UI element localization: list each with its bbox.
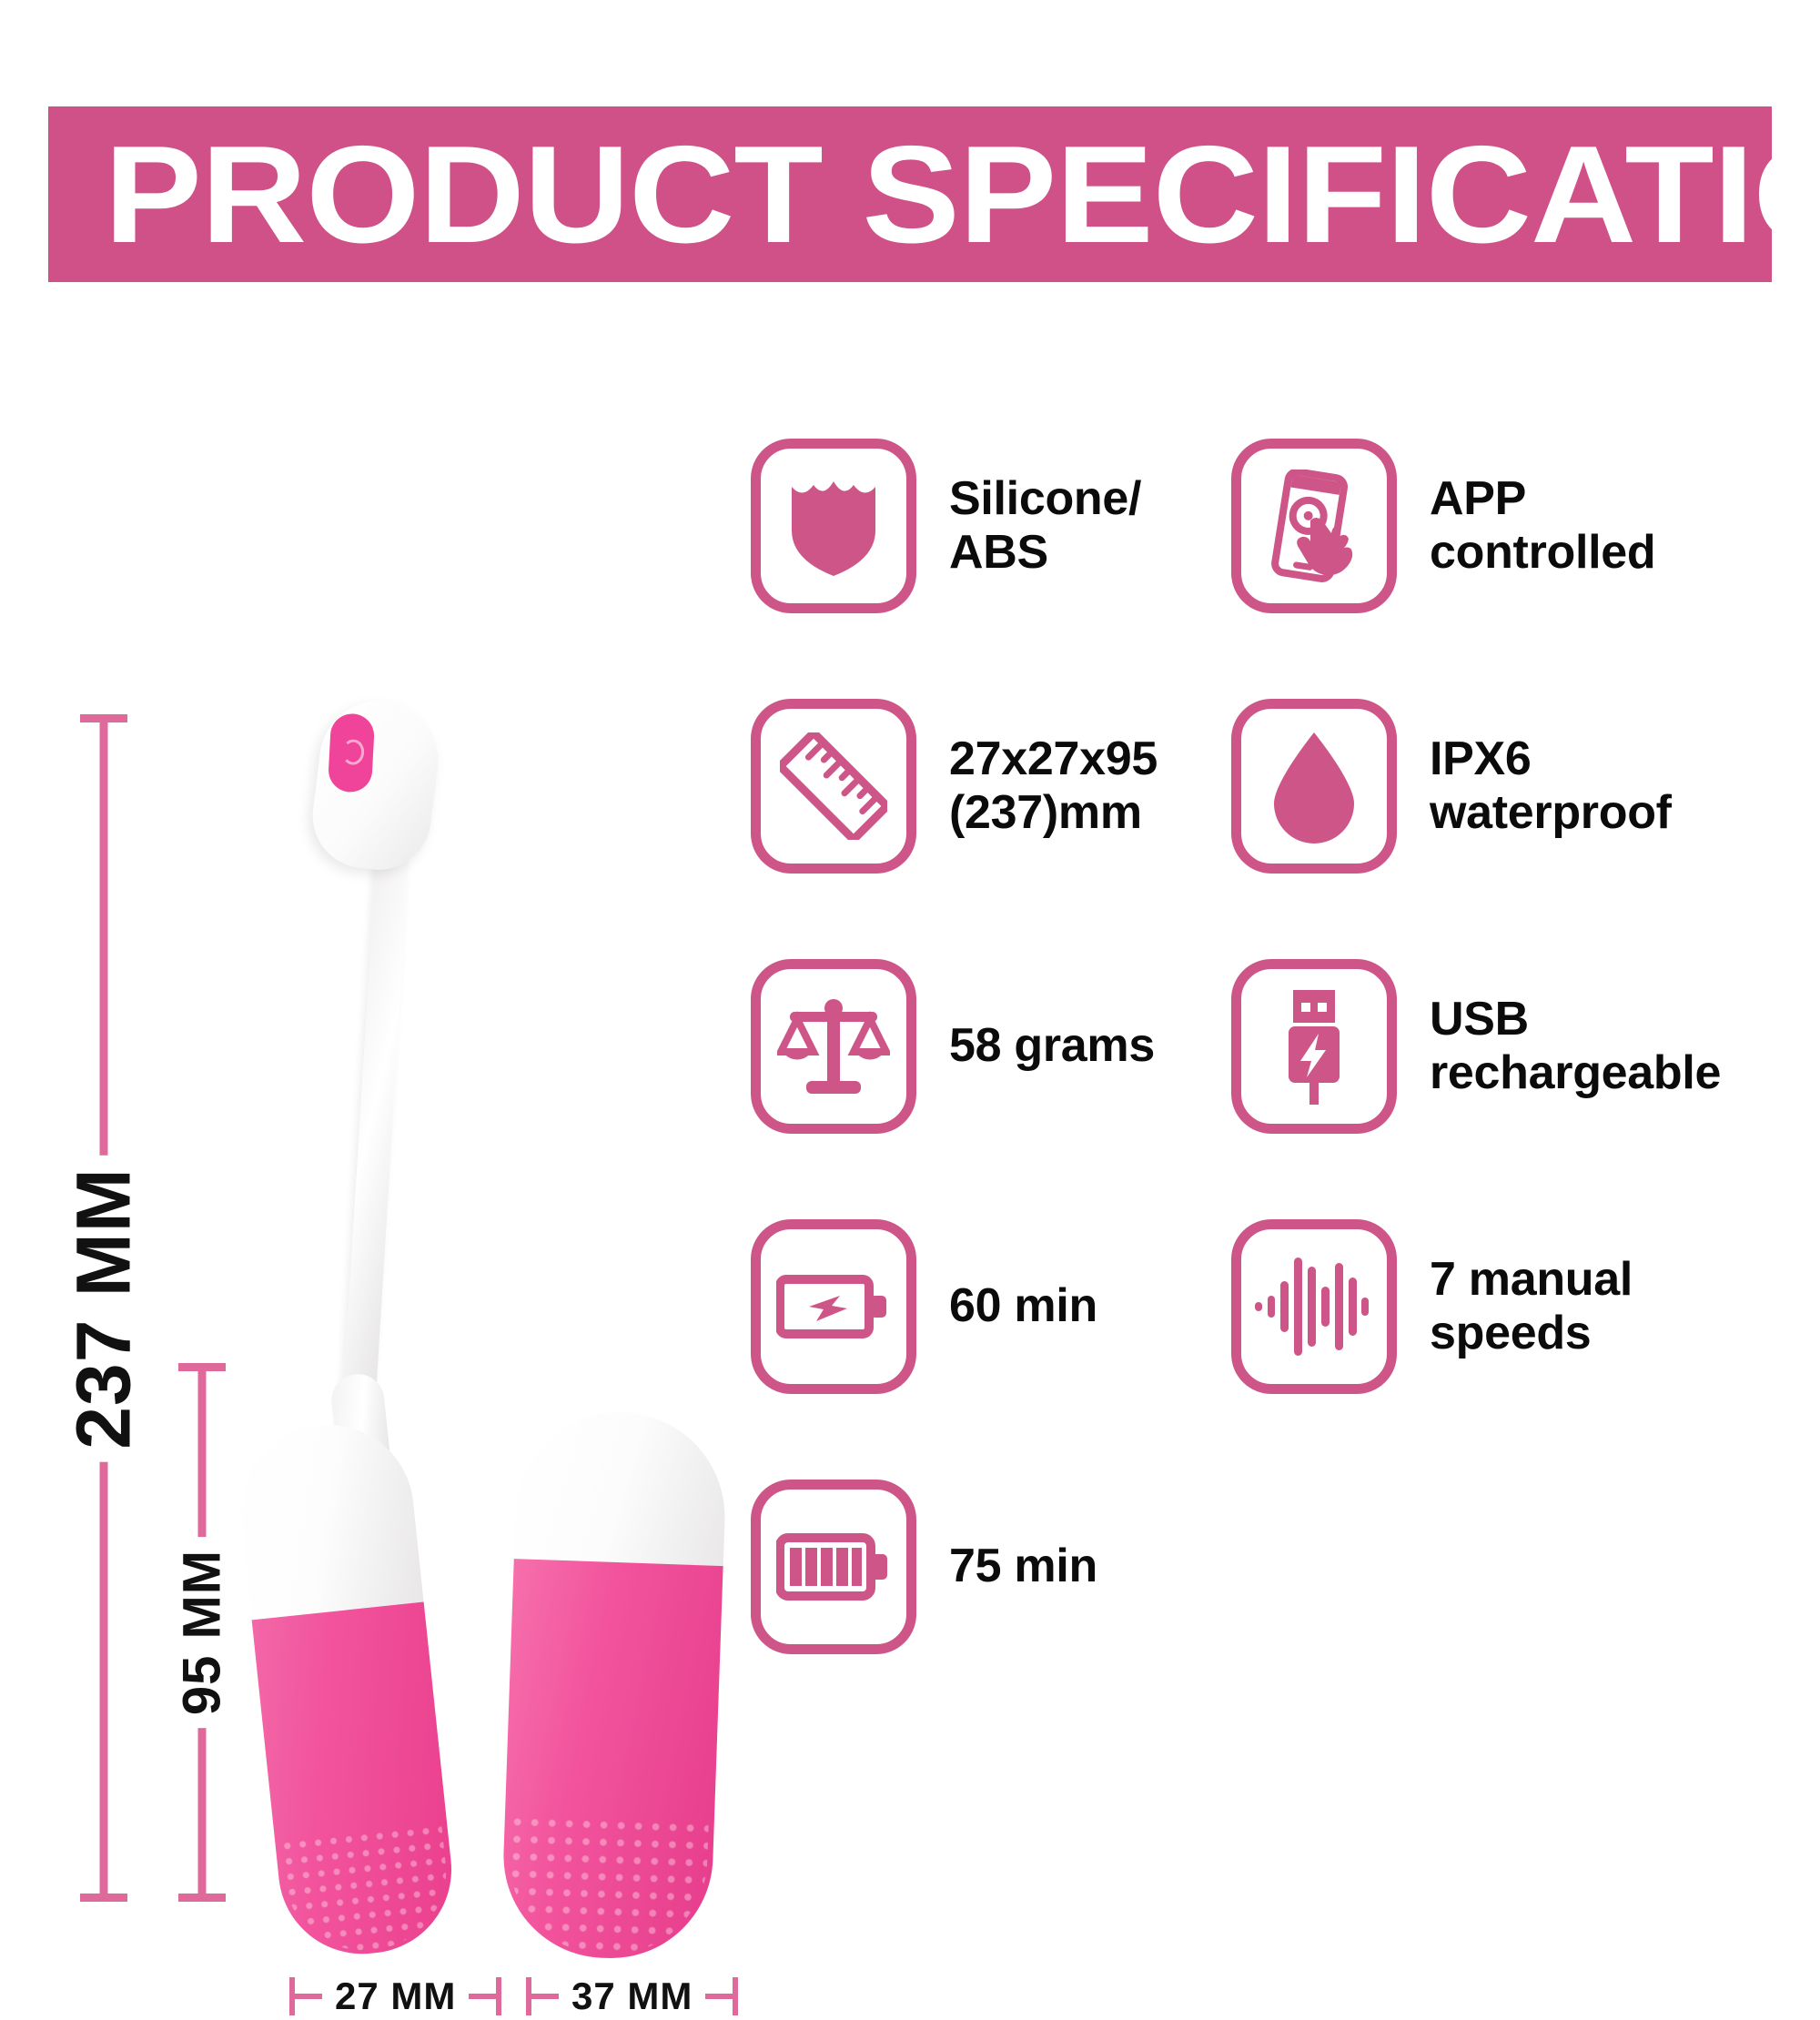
page-title: PRODUCT SPECIFICATIONS — [48, 126, 1820, 264]
waveform-icon — [1231, 1219, 1397, 1394]
spec-label-usb: USB rechargeable — [1430, 993, 1721, 1101]
spec-item-material: Silicone/ ABS — [751, 435, 1224, 617]
spec-label-speeds: 7 manual speeds — [1430, 1253, 1633, 1361]
usb-plug-icon — [1231, 959, 1397, 1134]
dimension-line-body-height: 95 MM — [178, 1363, 226, 1902]
dimension-tick-right — [496, 1977, 501, 2015]
product-remote-head — [307, 694, 445, 875]
balance-scale-icon — [751, 959, 916, 1134]
specifications-grid: Silicone/ ABS APP controlled — [751, 435, 1806, 1658]
dimension-bar-left — [531, 1994, 559, 1999]
dimension-label-95mm: 95 MM — [167, 1537, 238, 1728]
battery-charging-icon — [751, 1219, 916, 1394]
power-button-icon — [328, 712, 375, 793]
spec-item-waterproof: IPX6 waterproof — [1231, 695, 1704, 877]
product-body-egg — [500, 1409, 729, 1962]
dimension-line-body-width: 27 MM — [289, 1973, 501, 2020]
spec-item-app-control: APP controlled — [1231, 435, 1704, 617]
spec-item-usb: USB rechargeable — [1231, 955, 1704, 1137]
spec-label-waterproof: IPX6 waterproof — [1430, 732, 1672, 841]
dimension-cap-bottom — [80, 1894, 127, 1902]
spec-label-weight: 58 grams — [949, 1019, 1155, 1073]
dimension-label-27mm: 27 MM — [322, 1975, 469, 2018]
ruler-icon — [751, 699, 916, 874]
header-banner: PRODUCT SPECIFICATIONS — [48, 106, 1772, 282]
spec-item-runtime: 75 min — [751, 1476, 1224, 1658]
dimension-line-egg-width: 37 MM — [526, 1973, 738, 2020]
product-image-egg — [510, 1412, 719, 1958]
product-body-white-section — [232, 1417, 424, 1630]
egg-pink-section — [500, 1559, 723, 1962]
product-body-pink-section — [252, 1602, 460, 1963]
spec-label-material: Silicone/ ABS — [949, 472, 1141, 581]
product-image-wand — [273, 701, 482, 1956]
product-texture-dimples — [280, 1823, 454, 1958]
dimension-line-total-height: 237 MM — [80, 714, 127, 1902]
dimension-bar-right — [705, 1994, 733, 1999]
product-tail — [342, 845, 409, 1410]
spec-label-app-control: APP controlled — [1430, 472, 1655, 581]
egg-white-section — [513, 1409, 728, 1575]
phone-touch-icon — [1231, 439, 1397, 613]
spec-item-charge-time: 60 min — [751, 1216, 1224, 1398]
shield-icon — [751, 439, 916, 613]
water-drop-icon — [1231, 699, 1397, 874]
spec-label-charge-time: 60 min — [949, 1279, 1097, 1333]
dimension-cap-top — [178, 1363, 226, 1371]
dimension-bar-right — [469, 1994, 496, 1999]
battery-full-icon — [751, 1480, 916, 1654]
spec-label-runtime: 75 min — [949, 1540, 1097, 1593]
dimension-label-237mm: 237 MM — [55, 1155, 154, 1461]
dimension-cap-top — [80, 714, 127, 722]
dimension-label-37mm: 37 MM — [559, 1975, 705, 2018]
product-photo-panel: 237 MM 95 MM 27 MM 37 MM — [0, 300, 728, 1774]
spec-item-speeds: 7 manual speeds — [1231, 1216, 1704, 1398]
spec-item-dimensions: 27x27x95 (237)mm — [751, 695, 1224, 877]
spec-item-weight: 58 grams — [751, 955, 1224, 1137]
dimension-bar-left — [295, 1994, 322, 1999]
spec-label-dimensions: 27x27x95 (237)mm — [949, 732, 1158, 841]
egg-texture-dimples — [506, 1814, 709, 1958]
product-body-wand — [232, 1417, 460, 1960]
dimension-cap-bottom — [178, 1894, 226, 1902]
dimension-tick-right — [733, 1977, 738, 2015]
